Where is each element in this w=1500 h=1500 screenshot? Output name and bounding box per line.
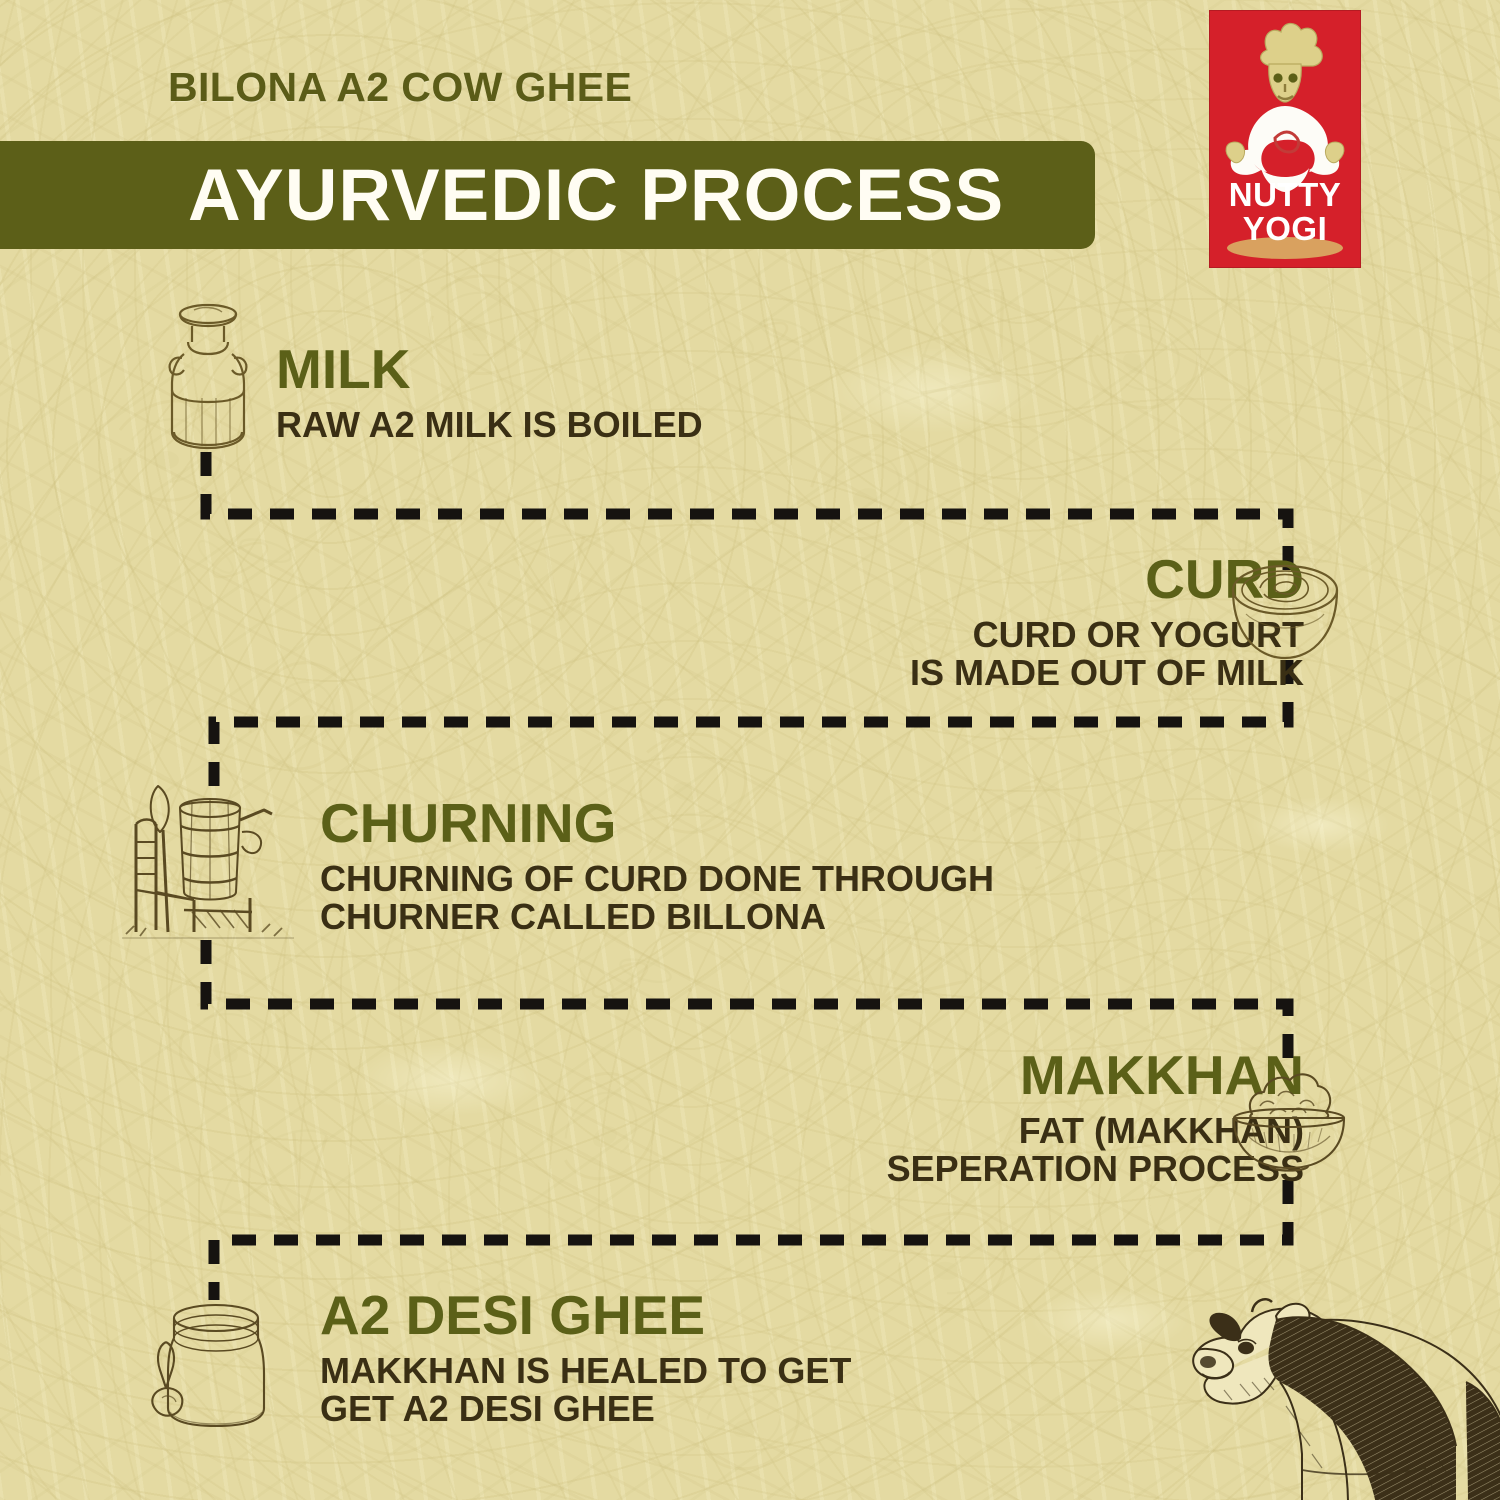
- step-churning-description: CHURNING OF CURD DONE THROUGH CHURNER CA…: [320, 860, 994, 936]
- cow-illustration: [1180, 1286, 1500, 1500]
- infographic-canvas: BILONA A2 COW GHEE AYURVEDIC PROCESS: [0, 0, 1500, 1500]
- step-churning-description-line1: CHURNING OF CURD DONE THROUGH: [320, 860, 994, 898]
- ghee-jar-icon: [150, 1296, 274, 1436]
- step-milk-title: MILK: [276, 342, 703, 397]
- step-churning: CHURNING CHURNING OF CURD DONE THROUGH C…: [320, 796, 994, 936]
- curd-bowl-icon: [1226, 560, 1344, 664]
- step-churning-title: CHURNING: [320, 796, 994, 851]
- page-kicker: BILONA A2 COW GHEE: [168, 64, 632, 111]
- step-milk-description: RAW A2 MILK IS BOILED: [276, 406, 703, 444]
- milk-can-icon: [158, 298, 258, 453]
- logo-brand-line1: NUTTY: [1209, 176, 1361, 214]
- logo-brand-line2: YOGI: [1209, 210, 1361, 248]
- step-a2-desi-ghee-description-line2: GET A2 DESI GHEE: [320, 1390, 851, 1428]
- step-churning-description-line2: CHURNER CALLED BILLONA: [320, 898, 994, 936]
- step-a2-desi-ghee-description: MAKKHAN IS HEALED TO GET GET A2 DESI GHE…: [320, 1352, 851, 1428]
- step-a2-desi-ghee-description-line1: MAKKHAN IS HEALED TO GET: [320, 1352, 851, 1390]
- wooden-churner-icon: [122, 780, 294, 942]
- step-a2-desi-ghee: A2 DESI GHEE MAKKHAN IS HEALED TO GET GE…: [320, 1288, 851, 1428]
- butter-bowl-icon: [1226, 1058, 1352, 1176]
- brand-logo[interactable]: NUTTY YOGI: [1209, 10, 1361, 268]
- page-title: AYURVEDIC PROCESS: [188, 152, 1004, 240]
- step-a2-desi-ghee-title: A2 DESI GHEE: [320, 1288, 851, 1343]
- step-milk: MILK RAW A2 MILK IS BOILED: [276, 342, 703, 444]
